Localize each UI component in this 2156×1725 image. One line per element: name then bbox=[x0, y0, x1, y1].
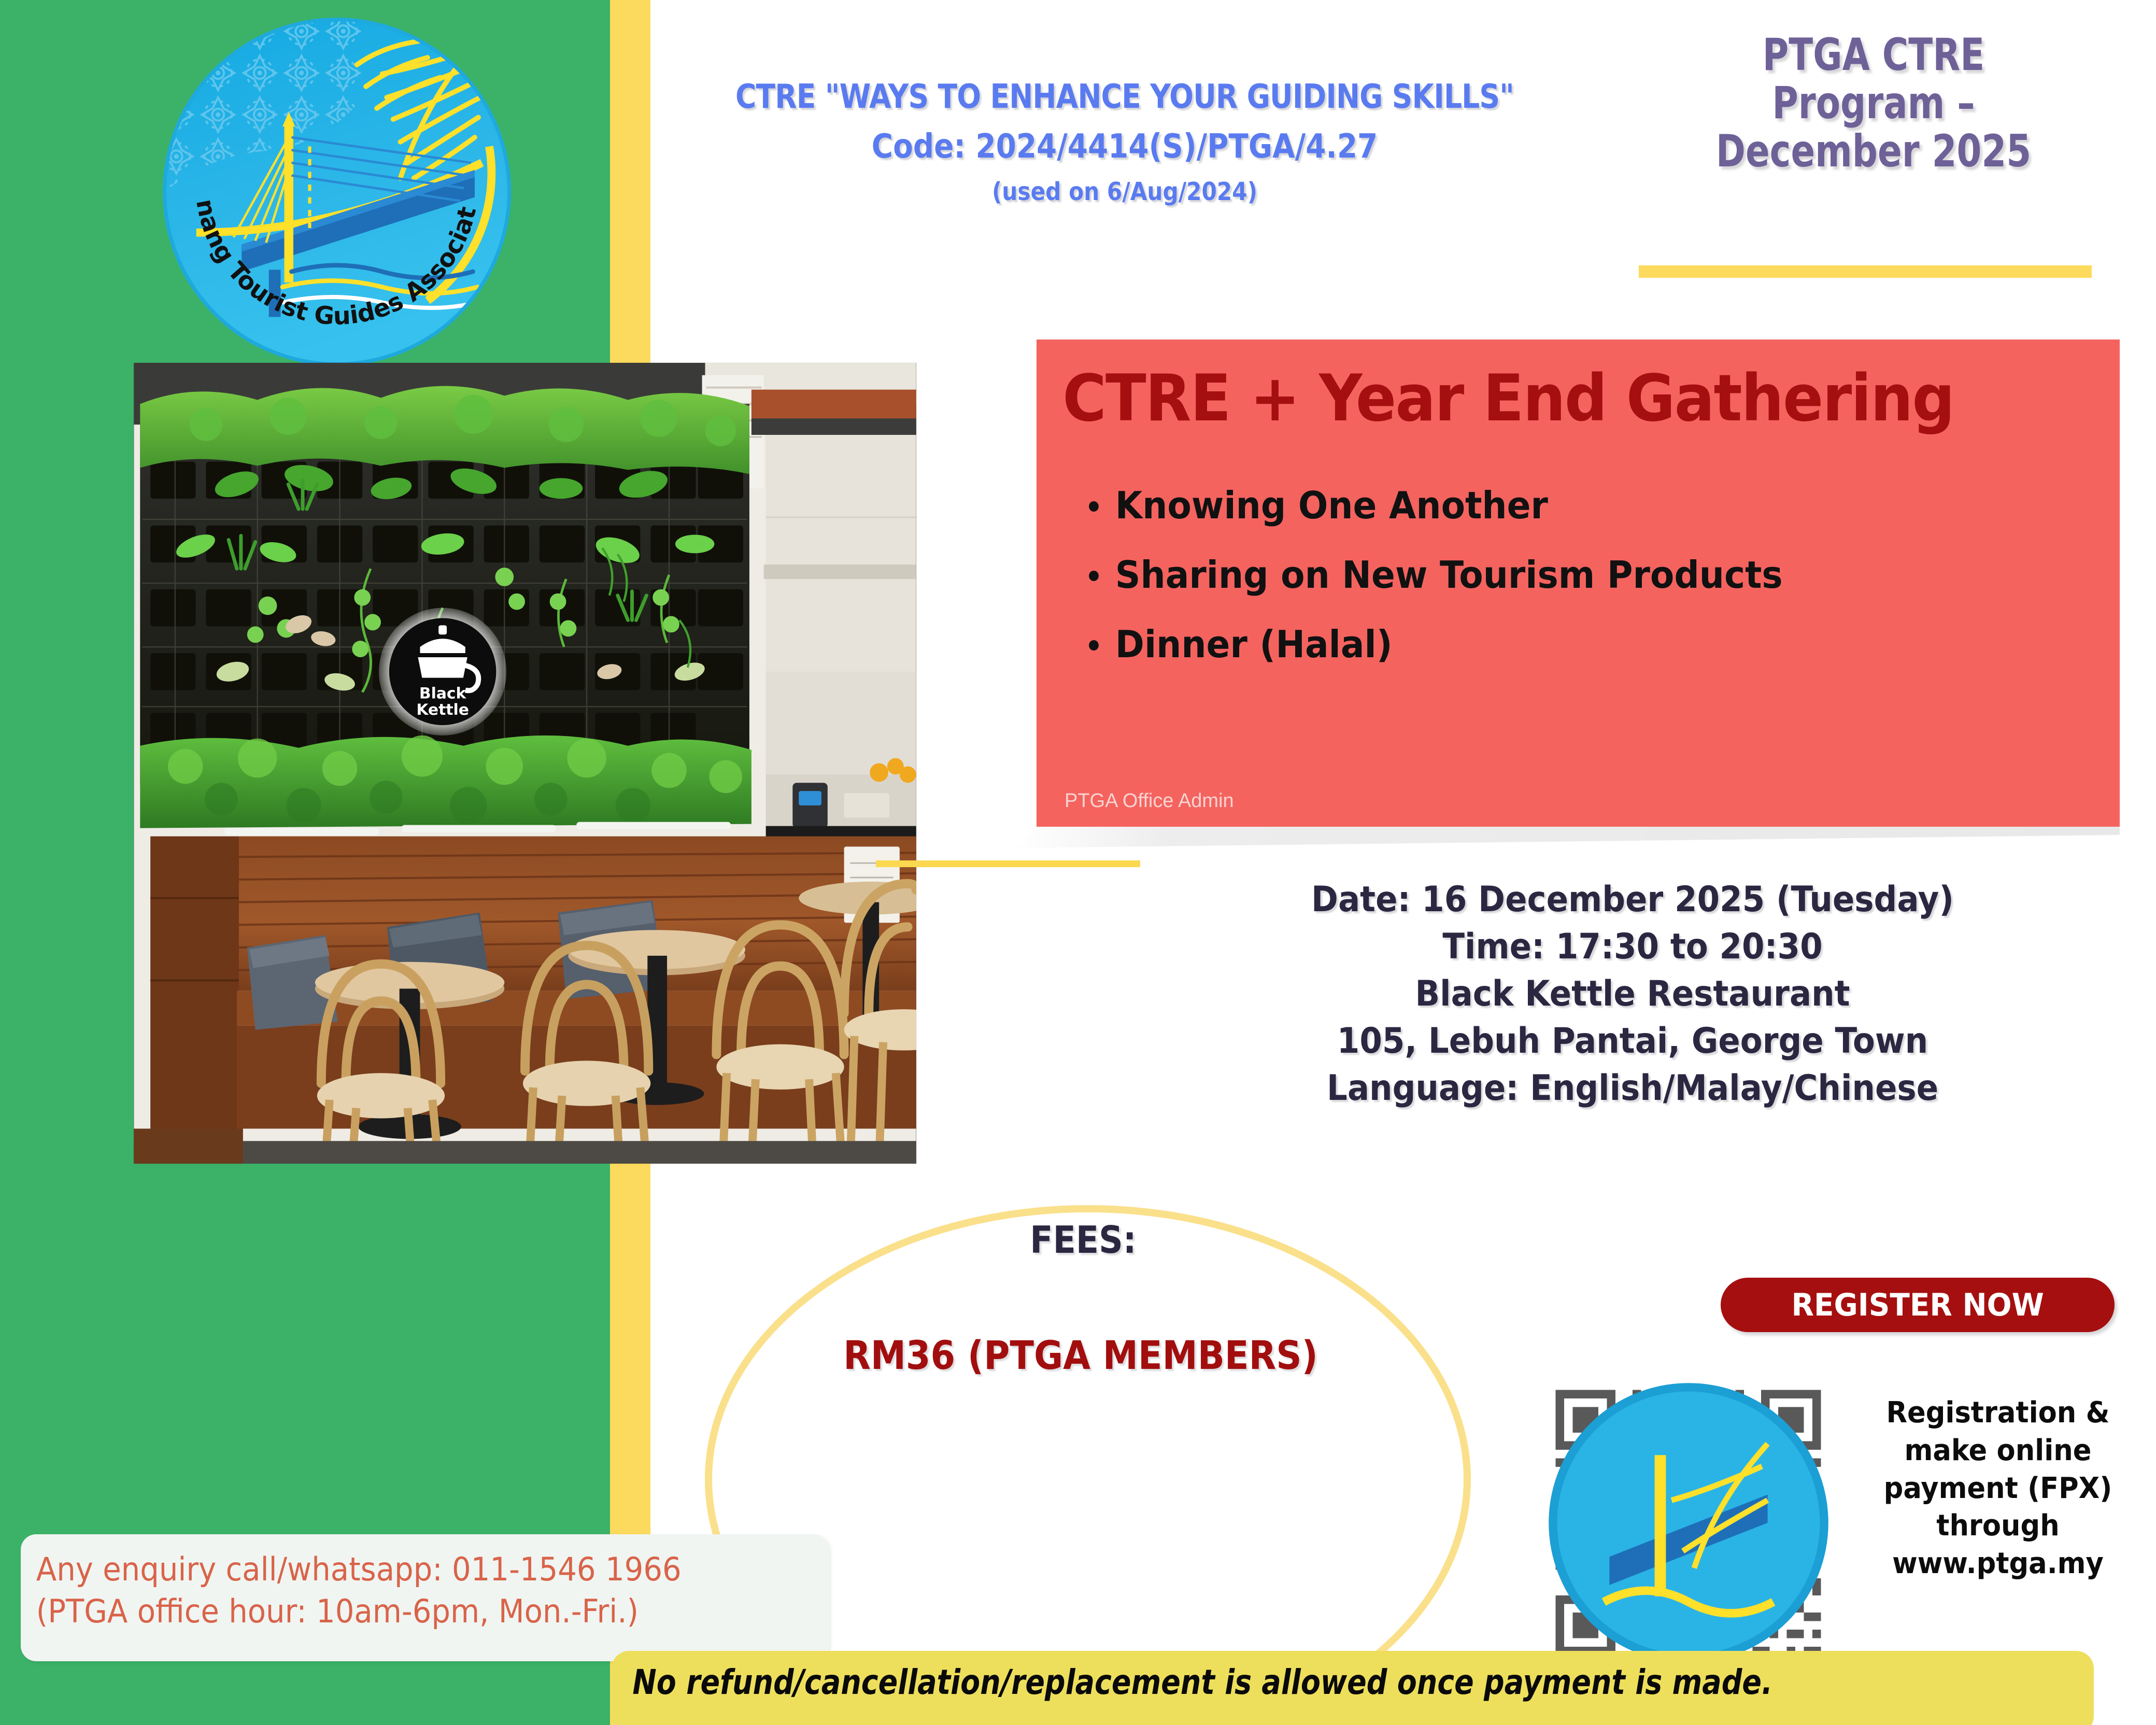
qr-center-logo bbox=[1547, 1381, 1829, 1664]
register-now-button[interactable]: REGISTER NOW bbox=[1721, 1278, 2115, 1332]
ptga-logo: Penang Tourist Guides Association bbox=[155, 10, 518, 373]
contact-box: Any enquiry call/whatsapp: 011-1546 1966… bbox=[21, 1534, 829, 1661]
detail-date: Date: 16 December 2025 (Tuesday) bbox=[1170, 876, 2095, 923]
callout-box: CTRE + Year End Gathering Knowing One An… bbox=[1037, 340, 2120, 827]
fees-amount: RM36 (PTGA MEMBERS) bbox=[794, 1332, 1368, 1378]
registration-website: www.ptga.my bbox=[1854, 1545, 2142, 1583]
program-title: PTGA CTRE Program – December 2025 bbox=[1612, 31, 2135, 176]
registration-info-line-2: make online bbox=[1854, 1432, 2142, 1470]
callout-bullet-1: Knowing One Another bbox=[1081, 484, 2058, 527]
contact-phone-line: Any enquiry call/whatsapp: 011-1546 1966 bbox=[21, 1534, 773, 1591]
callout-title: CTRE + Year End Gathering bbox=[1037, 340, 2044, 436]
refund-policy-banner: No refund/cancellation/replacement is al… bbox=[612, 1651, 2094, 1725]
qr-code[interactable] bbox=[1547, 1381, 1829, 1664]
detail-address: 105, Lebuh Pantai, George Town bbox=[1170, 1017, 2095, 1065]
refund-policy-text: No refund/cancellation/replacement is al… bbox=[612, 1651, 1856, 1702]
program-title-line-3: December 2025 bbox=[1664, 128, 2083, 176]
course-header: CTRE "WAYS TO ENHANCE YOUR GUIDING SKILL… bbox=[650, 78, 1599, 206]
program-title-line-1: PTGA CTRE bbox=[1664, 31, 2083, 79]
registration-info: Registration & make online payment (FPX)… bbox=[1854, 1394, 2142, 1583]
register-now-label: REGISTER NOW bbox=[1791, 1287, 2044, 1323]
contact-hours-line: (PTGA office hour: 10am-6pm, Mon.-Fri.) bbox=[21, 1591, 773, 1633]
detail-venue: Black Kettle Restaurant bbox=[1170, 970, 2095, 1017]
detail-language: Language: English/Malay/Chinese bbox=[1170, 1065, 2095, 1112]
callout-bullet-3: Dinner (Halal) bbox=[1081, 623, 2058, 666]
callout-bullet-2: Sharing on New Tourism Products bbox=[1081, 553, 2058, 597]
black-kettle-sign-line1: Black bbox=[419, 684, 467, 702]
callout-bullet-list: Knowing One Another Sharing on New Touri… bbox=[1037, 436, 2120, 666]
program-title-underline bbox=[1639, 265, 2092, 278]
details-divider-rule bbox=[876, 860, 1140, 867]
registration-info-line-1: Registration & bbox=[1854, 1394, 2142, 1432]
registration-info-line-3: payment (FPX) bbox=[1854, 1470, 2142, 1508]
poster-canvas: Penang Tourist Guides Association CTRE "… bbox=[0, 0, 2156, 1725]
fees-label: FEES: bbox=[985, 1218, 1181, 1262]
course-code: Code: 2024/4414(S)/PTGA/4.27 bbox=[707, 128, 1542, 166]
callout-shadow bbox=[1016, 826, 2120, 848]
detail-time: Time: 17:30 to 20:30 bbox=[1170, 923, 2095, 970]
course-title: CTRE "WAYS TO ENHANCE YOUR GUIDING SKILL… bbox=[717, 78, 1533, 116]
registration-info-line-4: through bbox=[1854, 1507, 2142, 1545]
course-used-on: (used on 6/Aug/2024) bbox=[707, 177, 1542, 206]
event-details: Date: 16 December 2025 (Tuesday) Time: 1… bbox=[1130, 876, 2135, 1112]
black-kettle-sign-line2: Kettle bbox=[416, 701, 469, 719]
callout-watermark: PTGA Office Admin bbox=[1065, 790, 1234, 812]
program-title-line-2: Program – bbox=[1664, 79, 2083, 128]
venue-photo: Black Kettle bbox=[134, 363, 916, 1164]
